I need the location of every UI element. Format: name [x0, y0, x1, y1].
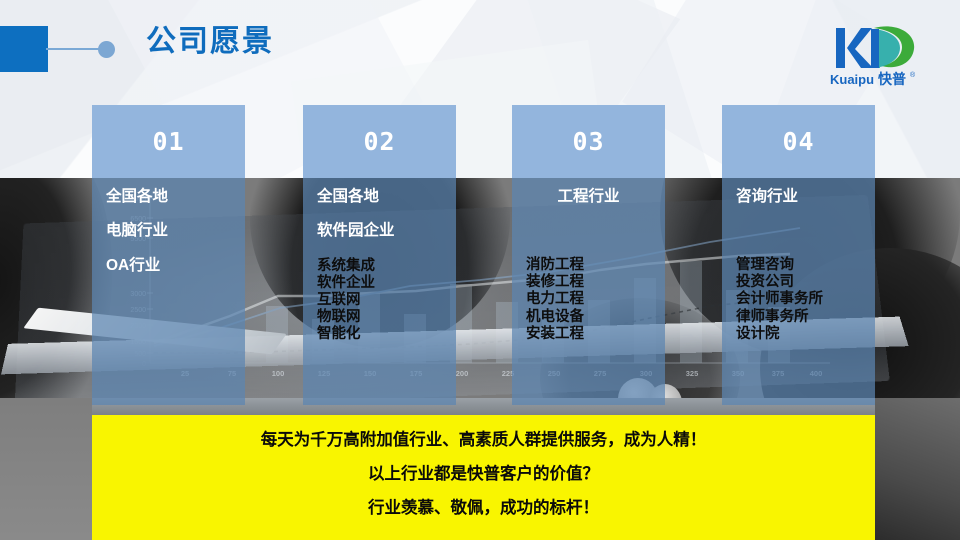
column-lead-list: 全国各地 电脑行业 OA行业 — [92, 189, 245, 274]
column-sub-item: 投资公司 — [736, 274, 875, 291]
banner-line: 以上行业都是快普客户的价值？ — [92, 465, 875, 483]
column-number-badge: 02 — [303, 105, 456, 178]
svg-text:200: 200 — [456, 369, 469, 378]
logo-trademark: ® — [910, 71, 916, 79]
column-lead-item: 咨询行业 — [736, 189, 875, 205]
page-title: 公司愿景 — [146, 22, 274, 61]
svg-text:100: 100 — [272, 369, 285, 378]
column-sub-item: 律师事务所 — [736, 309, 875, 326]
title-accent-square — [0, 26, 48, 72]
column-sub-item: 装修工程 — [526, 274, 665, 291]
column-number: 01 — [152, 129, 184, 154]
column-lead-item: 全国各地 — [317, 189, 456, 205]
column-sub-item: 设计院 — [736, 326, 875, 343]
svg-text:325: 325 — [686, 369, 699, 378]
column-sub-item: 机电设备 — [526, 309, 665, 326]
background-photo-bottom-left — [0, 398, 92, 540]
column-lead-item: 软件园企业 — [317, 223, 456, 239]
banner-line: 行业羡慕、敬佩，成功的标杆！ — [92, 499, 875, 517]
column-body: 全国各地 电脑行业 OA行业 — [92, 178, 245, 405]
column-body: 咨询行业 管理咨询 投资公司 会计师事务所 律师事务所 设计院 — [722, 178, 875, 405]
column-body: 全国各地 软件园企业 系统集成 软件企业 互联网 物联网 智能化 — [303, 178, 456, 405]
column-sub-item: 管理咨询 — [736, 257, 875, 274]
column-number: 02 — [363, 129, 395, 154]
logo-latin-text: Kuaipu — [830, 72, 874, 87]
slide-canvas: 公司愿景 Kuaipu 快普 ® — [0, 0, 960, 540]
column-sub-item: 电力工程 — [526, 291, 665, 308]
column-sub-list: 管理咨询 投资公司 会计师事务所 律师事务所 设计院 — [722, 257, 875, 343]
highlight-banner: 每天为千万高附加值行业、高素质人群提供服务，成为人精！ 以上行业都是快普客户的价… — [92, 415, 875, 540]
column-lead-item: 电脑行业 — [106, 223, 245, 239]
banner-line: 每天为千万高附加值行业、高素质人群提供服务，成为人精！ — [92, 431, 875, 449]
kuaipu-logo: Kuaipu 快普 ® — [828, 22, 940, 88]
column-sub-list: 系统集成 软件企业 互联网 物联网 智能化 — [303, 258, 456, 344]
column-number-badge: 01 — [92, 105, 245, 178]
title-bullet-dot — [98, 41, 115, 58]
column-sub-item: 安装工程 — [526, 326, 665, 343]
background-photo-bottom-right — [875, 398, 960, 540]
column-sub-item: 软件企业 — [317, 275, 456, 292]
column-sub-item: 互联网 — [317, 292, 456, 309]
column-lead-item: OA行业 — [106, 258, 245, 274]
column-lead-item: 工程行业 — [512, 189, 665, 205]
column-body: 工程行业 消防工程 装修工程 电力工程 机电设备 安装工程 — [512, 178, 665, 405]
logo-cn-text: 快普 — [878, 71, 906, 87]
column-number: 04 — [782, 129, 814, 154]
column-number: 03 — [572, 129, 604, 154]
column-sub-list: 消防工程 装修工程 电力工程 机电设备 安装工程 — [512, 257, 665, 343]
column-lead-list: 全国各地 软件园企业 — [303, 189, 456, 240]
column-lead-item: 全国各地 — [106, 189, 245, 205]
column-lead-list: 工程行业 — [512, 189, 665, 205]
column-number-badge: 03 — [512, 105, 665, 178]
column-sub-item: 智能化 — [317, 326, 456, 343]
column-lead-list: 咨询行业 — [722, 189, 875, 205]
column-sub-item: 消防工程 — [526, 257, 665, 274]
column-sub-item: 会计师事务所 — [736, 291, 875, 308]
column-sub-item: 系统集成 — [317, 258, 456, 275]
column-sub-item: 物联网 — [317, 309, 456, 326]
column-number-badge: 04 — [722, 105, 875, 178]
